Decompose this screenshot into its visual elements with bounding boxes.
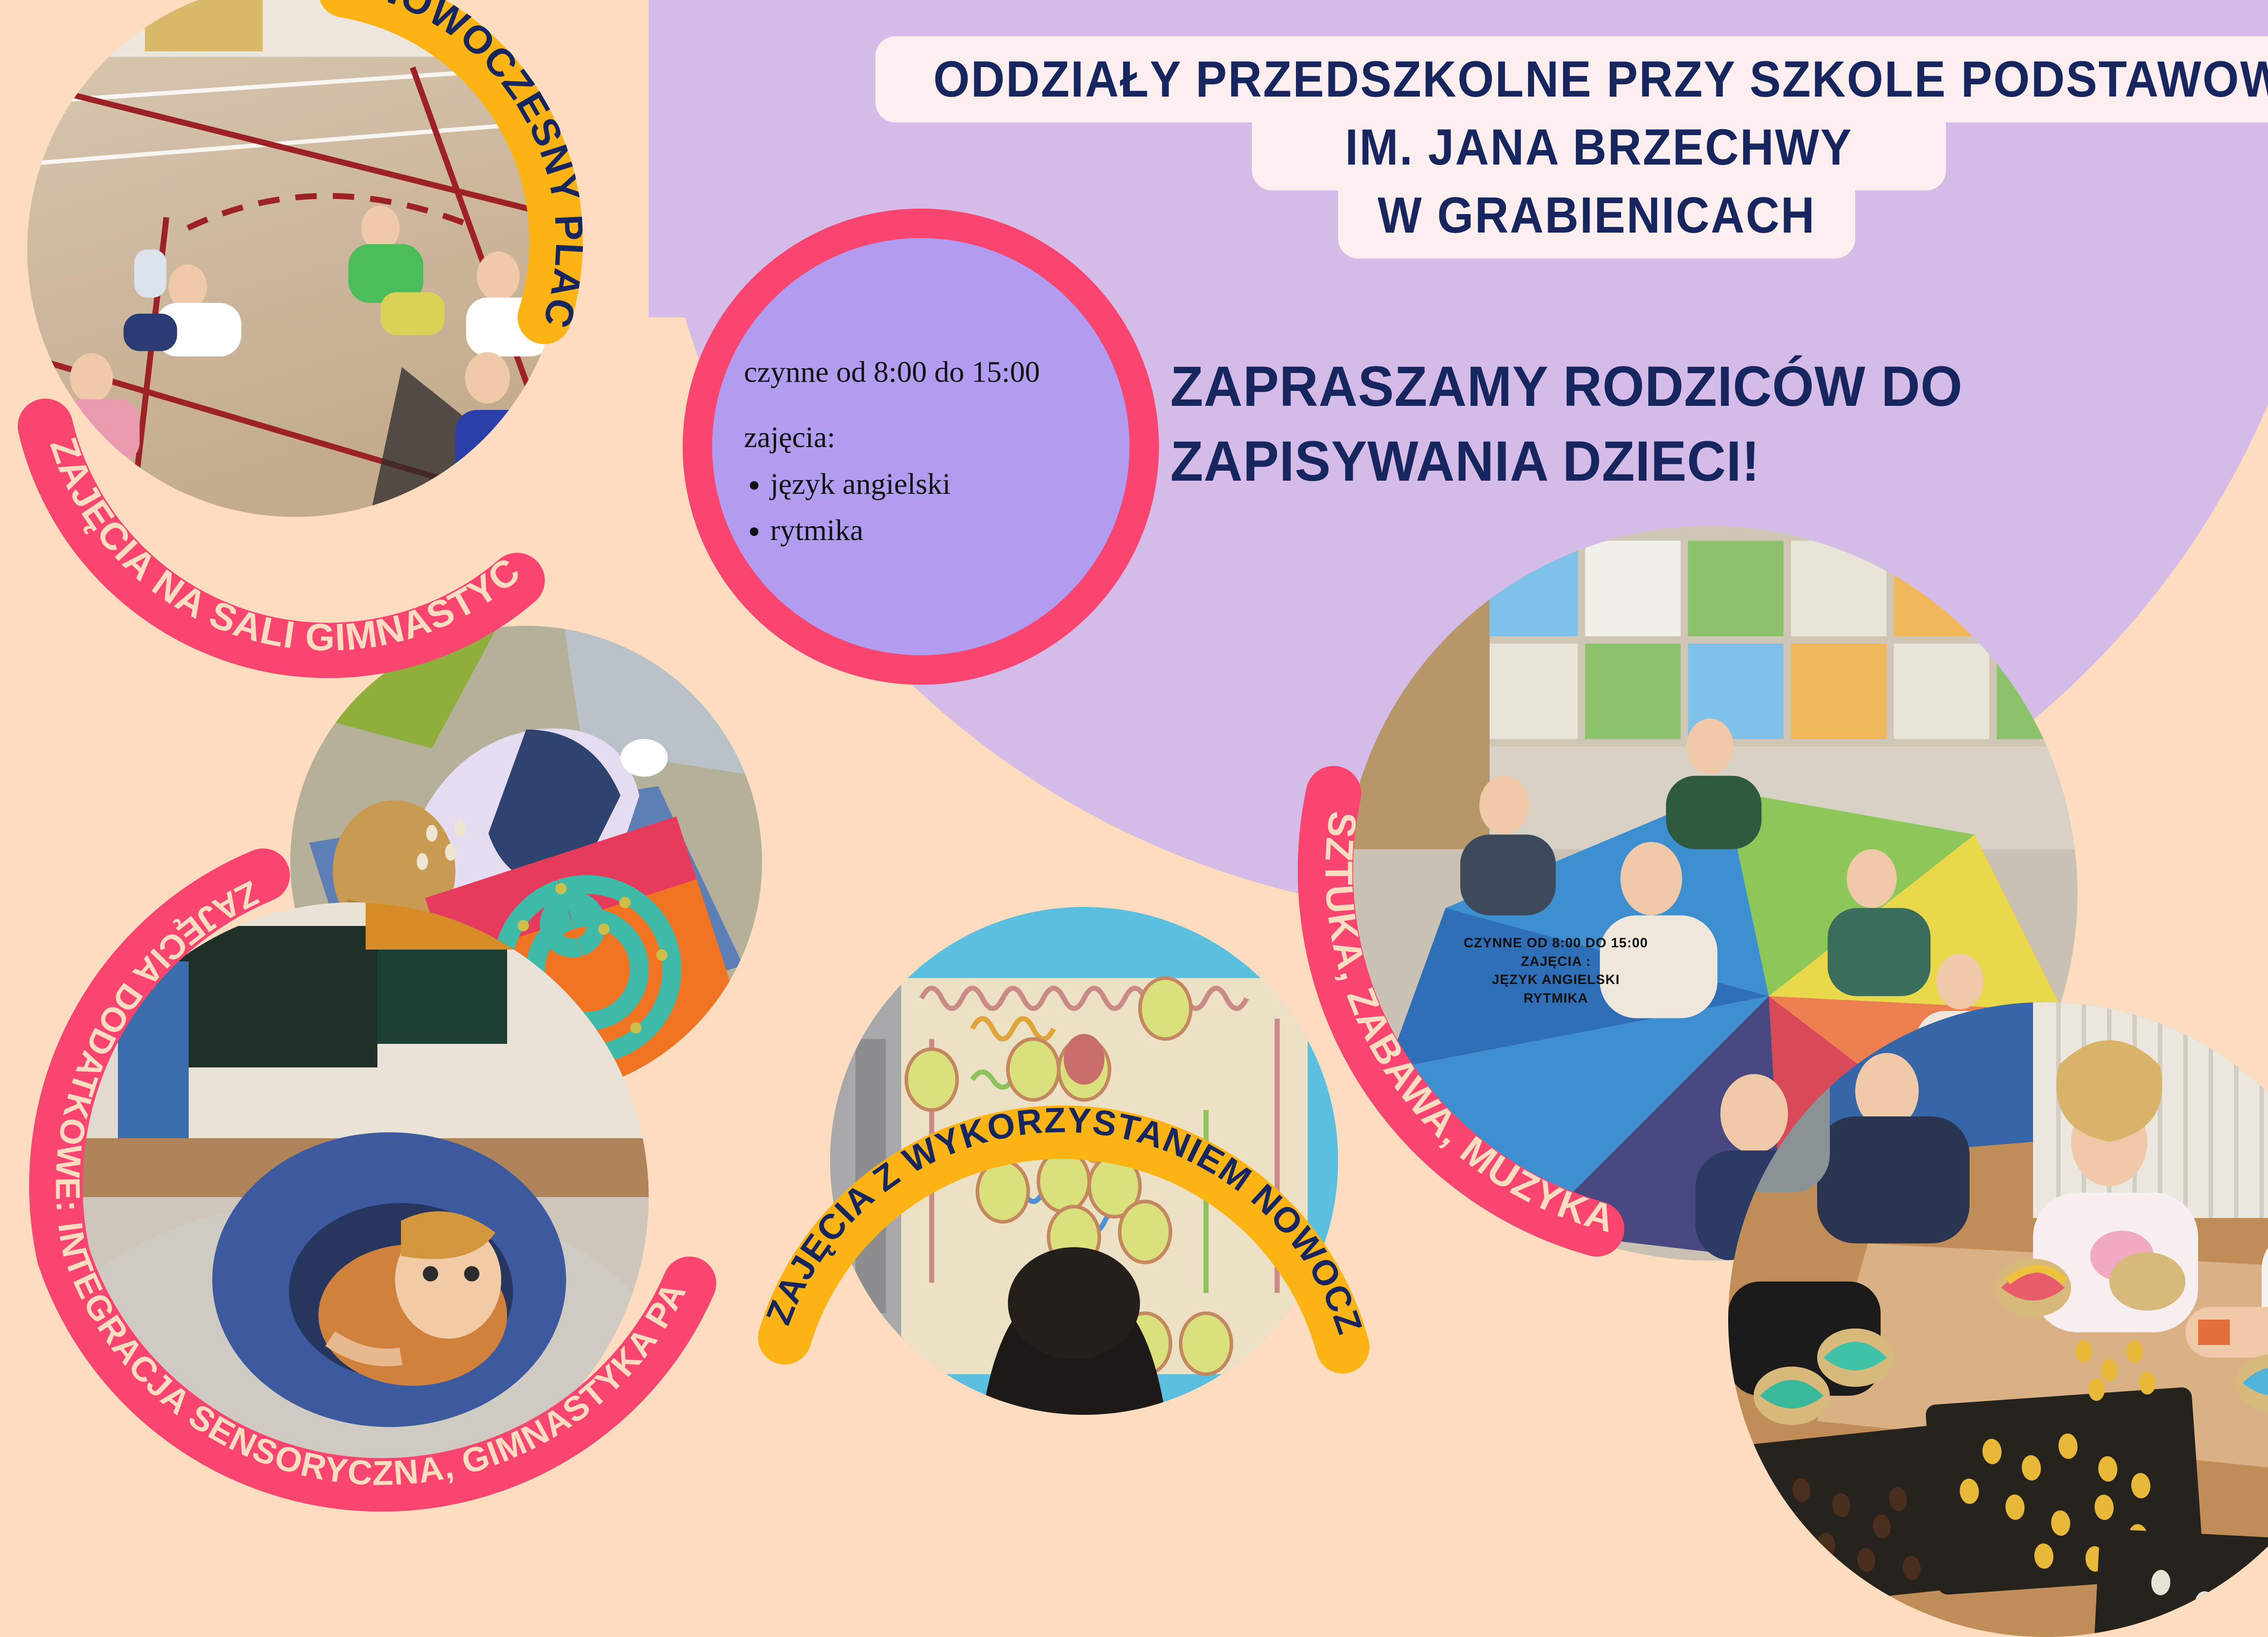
opening-hours: czynne od 8:00 do 15:00 [744, 349, 1107, 395]
photo-circle-playdough [1728, 1002, 2268, 1637]
playdough-photo [1728, 1002, 2268, 1637]
photo-circle-gym [27, 0, 562, 517]
caption-line3: JĘZYK ANGIELSKI [1429, 971, 1683, 989]
call-to-action: ZAPRASZAMY RODZICÓW DO ZAPISYWANIA DZIEC… [1170, 349, 2032, 499]
activity-item: rytmika [770, 507, 1107, 554]
activity-item: język angielski [770, 461, 1107, 507]
caption-line2: ZAJĘCIA : [1429, 953, 1683, 971]
embedded-photo-caption: CZYNNE OD 8:00 DO 15:00 ZAJĘCIA : JĘZYK … [1429, 934, 1683, 1008]
activities-label: zajęcia: [744, 414, 1107, 461]
cta-line2: ZAPISYWANIA DZIECI! [1170, 424, 2032, 499]
title-line3: W GRABIENICACH [1359, 172, 1835, 258]
activities-list: język angielski rytmika [744, 461, 1107, 554]
title-plate-line3: W GRABIENICACH [1338, 172, 1855, 258]
sensory-tunnel-photo [59, 902, 649, 1492]
caption-line1: CZYNNE OD 8:00 DO 15:00 [1429, 934, 1683, 953]
photo-circle-whiteboard [830, 907, 1338, 1415]
whiteboard-photo [830, 907, 1338, 1415]
gym-photo [27, 0, 562, 517]
title-block: ODDZIAŁY PRZEDSZKOLNE PRZY SZKOLE PODSTA… [875, 36, 2268, 299]
info-bubble-text: czynne od 8:00 do 15:00 zajęcia: język a… [744, 349, 1107, 554]
cta-line1: ZAPRASZAMY RODZICÓW DO [1170, 349, 2032, 424]
caption-line4: RYTMIKA [1429, 989, 1683, 1008]
photo-circle-sensory-tunnel [59, 902, 649, 1492]
